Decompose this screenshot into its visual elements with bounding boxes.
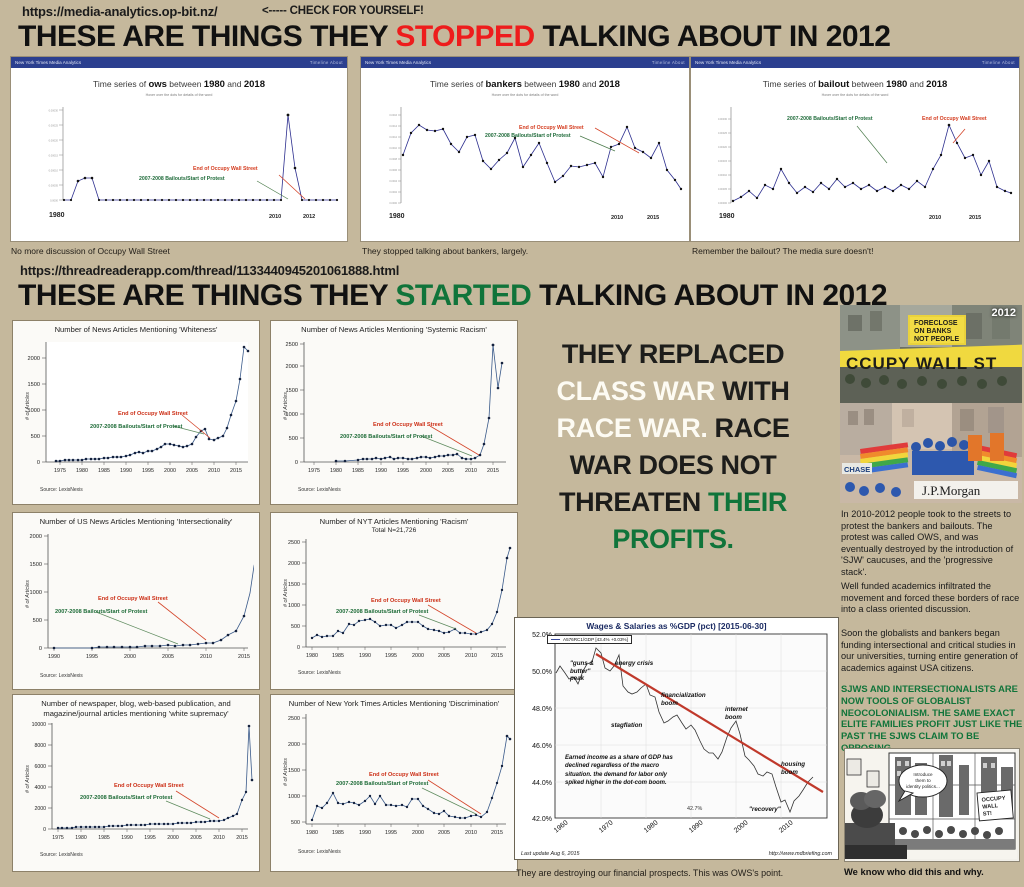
svg-text:2005: 2005 xyxy=(190,835,202,841)
headline-started-pre: THESE ARE THINGS THEY xyxy=(18,279,395,312)
cartoon-caption: We know who did this and why. xyxy=(844,866,984,877)
svg-text:0.00005: 0.00005 xyxy=(718,188,728,191)
annot-bailouts: 2007-2008 Bailouts/Start of Protest xyxy=(340,434,432,440)
svg-text:ON BANKS: ON BANKS xyxy=(914,328,952,335)
y-axis-label: # of Articles xyxy=(25,580,31,608)
xtick-2015: 2015 xyxy=(969,215,981,221)
nyt-hover-hint: Hover over the dots for details of the w… xyxy=(691,93,1019,97)
nyt-analytics-panel-ows[interactable]: New York Times Media Analytics Timeline … xyxy=(10,56,348,242)
svg-text:48.0%: 48.0% xyxy=(532,706,552,713)
annot-bailouts: 2007-2008 Bailouts/Start of Protest xyxy=(80,795,172,801)
svg-text:1990: 1990 xyxy=(359,830,371,836)
svg-text:0: 0 xyxy=(39,646,42,652)
caption-panel-bailout: Remember the bailout? The media sure doe… xyxy=(692,246,873,256)
svg-text:2500: 2500 xyxy=(288,716,300,722)
chart-subtitle: Total N=21,726 xyxy=(276,527,512,534)
headline-started-post: TALKING ABOUT IN 2012 xyxy=(531,279,887,312)
nyt-app-title: New York Times Media Analytics xyxy=(365,57,431,68)
nyt-nav-links[interactable]: Timeline About xyxy=(982,57,1015,68)
svg-text:44.0%: 44.0% xyxy=(532,780,552,787)
svg-text:1985: 1985 xyxy=(332,653,344,659)
svg-text:1990: 1990 xyxy=(688,819,705,834)
nyt-app-title: New York Times Media Analytics xyxy=(695,57,761,68)
chart-plot: # of Articles 0500 10001500 2000 xyxy=(18,338,254,486)
chart-plot: # of Articles 0500 10001500 20002500 xyxy=(276,338,512,486)
svg-text:0.00010: 0.00010 xyxy=(49,169,59,173)
y-axis-label: # of Articles xyxy=(25,392,31,420)
svg-text:1995: 1995 xyxy=(86,654,98,660)
photo-ows-2012: FORECLOSE ON BANKS NOT PEOPLE CCUPY WALL… xyxy=(840,305,1022,403)
t-y1: 1980 xyxy=(559,79,580,90)
xtick-2010: 2010 xyxy=(929,215,941,221)
nyt-bankers-svg: 0.00000.0002 0.00040.0006 0.00080.0010 0… xyxy=(367,103,685,211)
svg-text:0.0006: 0.0006 xyxy=(389,169,397,172)
svg-text:46.0%: 46.0% xyxy=(532,743,552,750)
t-and: and xyxy=(225,79,244,89)
slogan-line-2: CLASS WAR WITH xyxy=(508,373,838,410)
svg-text:1500: 1500 xyxy=(30,562,42,568)
t-and: and xyxy=(907,79,926,89)
chart-card-whiteness[interactable]: Number of News Articles Mentioning 'Whit… xyxy=(12,320,260,505)
svg-text:0.0000: 0.0000 xyxy=(389,202,397,205)
svg-text:0.00030: 0.00030 xyxy=(49,109,59,113)
svg-text:8000: 8000 xyxy=(34,743,46,749)
svg-text:1990: 1990 xyxy=(359,653,371,659)
svg-text:1990: 1990 xyxy=(120,468,132,474)
svg-text:0: 0 xyxy=(43,827,46,833)
svg-text:2000: 2000 xyxy=(34,806,46,812)
annot-bailouts: 2007-2008 Bailouts/Start of Protest xyxy=(336,609,428,615)
cartoon-art: OCCUPYWALLST! Introducethem to identity … xyxy=(845,749,1017,859)
caption-panel-bankers: They stopped talking about bankers, larg… xyxy=(362,246,528,256)
annot-bailouts: 2007-2008 Bailouts/Start of Protest xyxy=(55,609,147,615)
svg-text:2000: 2000 xyxy=(288,742,300,748)
slogan-profits: PROFITS. xyxy=(612,524,733,554)
svg-text:42.0%: 42.0% xyxy=(532,816,552,823)
svg-text:2500: 2500 xyxy=(288,540,300,546)
svg-text:0.0002: 0.0002 xyxy=(389,191,397,194)
chart-plot: # of Articles 0500 10001500 2000 xyxy=(18,530,254,672)
chart-source: Source: LexisNexis xyxy=(276,487,512,493)
svg-text:0.00025: 0.00025 xyxy=(49,124,59,128)
annot-end-ows: End of Occupy Wall Street xyxy=(369,772,439,778)
chart-source: Source: LexisNexis xyxy=(276,670,512,676)
svg-text:2015: 2015 xyxy=(491,653,503,659)
nyt-hover-hint: Hover over the dots for details of the w… xyxy=(361,93,689,97)
annot-bailouts: 2007-2008 Bailouts/Start of Protest xyxy=(90,424,182,430)
svg-text:1500: 1500 xyxy=(288,582,300,588)
xtick-1980: 1980 xyxy=(389,213,405,220)
annot-energy-crisis: energy crisis xyxy=(615,660,653,667)
chart-source: Source: LexisNexis xyxy=(18,487,254,493)
wages-chart-title: Wages & Salaries as %GDP (pct) [2015-06-… xyxy=(515,618,838,631)
slogan-line-6: PROFITS. xyxy=(508,521,838,558)
svg-text:1995: 1995 xyxy=(397,468,409,474)
svg-text:0.00015: 0.00015 xyxy=(49,154,59,158)
annot-internet-boom: internet boom xyxy=(725,706,755,722)
wages-chart-card[interactable]: Wages & Salaries as %GDP (pct) [2015-06-… xyxy=(514,617,839,860)
svg-text:them to: them to xyxy=(915,778,931,783)
source-url-top[interactable]: https://media-analytics.op-bit.nz/ xyxy=(22,4,217,19)
slogan-line-3: RACE WAR. RACE xyxy=(508,410,838,447)
slogan-their: THEIR xyxy=(708,487,787,517)
annot-end-ows: End of Occupy Wall Street xyxy=(193,166,258,172)
photo-year-2012: 2012 xyxy=(992,307,1016,319)
annot-bailouts: 2007-2008 Bailouts/Start of Protest xyxy=(485,133,571,139)
slogan-threaten: THREATEN xyxy=(559,487,708,517)
svg-text:1975: 1975 xyxy=(52,835,64,841)
svg-text:2000: 2000 xyxy=(420,468,432,474)
chart-source: Source: LexisNexis xyxy=(276,849,512,855)
chart-card-systemic-racism[interactable]: Number of News Articles Mentioning 'Syst… xyxy=(270,320,518,505)
legend-swatch xyxy=(551,639,560,640)
svg-text:2015: 2015 xyxy=(487,468,499,474)
svg-text:1985: 1985 xyxy=(98,835,110,841)
wages-endpoint-label: 42.7% xyxy=(687,806,702,812)
svg-text:1980: 1980 xyxy=(76,468,88,474)
chart-plot: # of Articles 02000 40006000 800010000 xyxy=(18,721,254,851)
chart-card-white-supremacy[interactable]: Number of newspaper, blog, web-based pub… xyxy=(12,694,260,872)
nyt-nav-links[interactable]: Timeline About xyxy=(652,57,685,68)
svg-text:2000: 2000 xyxy=(30,534,42,540)
y-axis-label: # of Articles xyxy=(283,758,289,786)
xtick-2012: 2012 xyxy=(303,214,315,220)
svg-text:2000: 2000 xyxy=(733,819,750,834)
annot-financialization-boom: financialization boom xyxy=(661,692,719,708)
t-and: and xyxy=(580,79,599,89)
annot-guns-butter: "guns & butter" peak xyxy=(570,660,604,683)
nyt-plot-area[interactable]: 0.00000.0002 0.00040.0006 0.00080.0010 0… xyxy=(367,103,683,213)
nyt-nav-links[interactable]: Timeline About xyxy=(310,57,343,68)
slogan-race: RACE xyxy=(707,413,789,443)
svg-text:1000: 1000 xyxy=(30,590,42,596)
svg-text:Introduce: Introduce xyxy=(913,772,933,777)
annot-end-ows: End of Occupy Wall Street xyxy=(98,596,168,602)
svg-text:1980: 1980 xyxy=(306,653,318,659)
svg-text:1990: 1990 xyxy=(375,468,387,474)
slogan-line-4: WAR DOES NOT xyxy=(508,447,838,484)
right-paragraph-2: Well funded academics infiltrated the mo… xyxy=(841,581,1021,616)
svg-text:1985: 1985 xyxy=(98,468,110,474)
svg-text:0.0016: 0.0016 xyxy=(389,114,397,117)
svg-text:0.00005: 0.00005 xyxy=(49,184,59,188)
center-slogan: THEY REPLACED CLASS WAR WITH RACE WAR. R… xyxy=(508,336,838,558)
nyt-ows-svg: 0.00000.00005 0.000100.00015 0.000200.00… xyxy=(17,103,343,211)
nyt-chart-title: Time series of bankers between 1980 and … xyxy=(361,79,689,90)
t-keyword: ows xyxy=(148,79,166,90)
svg-text:4000: 4000 xyxy=(34,785,46,791)
t-y1: 1980 xyxy=(886,79,907,90)
annot-stagflation: stagflation xyxy=(611,722,642,729)
y-axis-label: # of Articles xyxy=(25,765,31,793)
svg-text:0.0014: 0.0014 xyxy=(389,125,397,128)
svg-text:0.00025: 0.00025 xyxy=(718,132,728,135)
annot-housing-boom: housing boom xyxy=(781,761,811,777)
svg-text:2000: 2000 xyxy=(28,356,40,362)
svg-text:0: 0 xyxy=(297,645,300,651)
svg-text:1000: 1000 xyxy=(288,603,300,609)
svg-text:0.00000: 0.00000 xyxy=(718,202,728,205)
svg-text:CHASE: CHASE xyxy=(844,465,870,474)
svg-text:2015: 2015 xyxy=(230,468,242,474)
caption-wages: They are destroying our financial prospe… xyxy=(516,868,783,878)
annot-bailouts: 2007-2008 Bailouts/Start of Protest xyxy=(336,781,428,787)
svg-text:1500: 1500 xyxy=(28,382,40,388)
svg-text:1980: 1980 xyxy=(306,830,318,836)
svg-text:0: 0 xyxy=(37,460,40,466)
xtick-2015: 2015 xyxy=(647,215,659,221)
chart-plot: # of Articles 5001000 15002000 2500 xyxy=(276,712,512,848)
chart-title: Number of News Articles Mentioning 'Syst… xyxy=(276,325,512,335)
t-pre: Time series of xyxy=(93,79,148,89)
svg-text:1995: 1995 xyxy=(385,830,397,836)
svg-text:6000: 6000 xyxy=(34,764,46,770)
xtick-1980: 1980 xyxy=(719,213,735,220)
svg-text:2000: 2000 xyxy=(124,654,136,660)
svg-text:1500: 1500 xyxy=(288,768,300,774)
svg-text:2005: 2005 xyxy=(438,830,450,836)
svg-text:1980: 1980 xyxy=(643,819,660,834)
t-y2: 2018 xyxy=(599,79,620,90)
svg-text:identity politics...: identity politics... xyxy=(906,784,940,789)
nyt-appbar: New York Times Media Analytics Timeline … xyxy=(691,57,1019,68)
wages-last-update: Last update Aug 6, 2015 xyxy=(521,851,580,857)
t-mid: between xyxy=(522,79,559,89)
check-for-yourself-note: <----- CHECK FOR YOURSELF! xyxy=(262,5,424,17)
nyt-plot-area[interactable]: 0.000000.00005 0.000100.00015 0.000200.0… xyxy=(697,103,1013,213)
svg-text:1995: 1995 xyxy=(142,468,154,474)
t-keyword: bailout xyxy=(818,79,849,90)
wages-note: Earned income as a share of GDP has decl… xyxy=(565,754,675,788)
svg-text:2000: 2000 xyxy=(167,835,179,841)
svg-text:50.0%: 50.0% xyxy=(532,669,552,676)
nyt-analytics-panel-bankers[interactable]: New York Times Media Analytics Timeline … xyxy=(360,56,690,242)
right-paragraph-3: Soon the globalists and bankers began fu… xyxy=(841,628,1021,674)
svg-text:0.0000: 0.0000 xyxy=(50,199,58,203)
cartoon-identity-politics: OCCUPYWALLST! Introducethem to identity … xyxy=(844,748,1020,862)
nyt-appbar: New York Times Media Analytics Timeline … xyxy=(11,57,347,68)
chart-card-intersectionality[interactable]: Number of US News Articles Mentioning 'I… xyxy=(12,512,260,690)
svg-text:0.0010: 0.0010 xyxy=(389,147,397,150)
svg-text:0.00010: 0.00010 xyxy=(718,174,728,177)
svg-text:CCUPY WALL ST: CCUPY WALL ST xyxy=(846,354,997,373)
svg-text:J.P.Morgan: J.P.Morgan xyxy=(922,483,981,498)
annot-end-ows: End of Occupy Wall Street xyxy=(114,783,184,789)
svg-text:2010: 2010 xyxy=(213,835,225,841)
headline-started-keyword: STARTED xyxy=(395,279,531,312)
svg-text:10000: 10000 xyxy=(32,722,47,728)
svg-text:2015: 2015 xyxy=(491,830,503,836)
svg-text:0.00015: 0.00015 xyxy=(718,160,728,163)
svg-text:NOT PEOPLE: NOT PEOPLE xyxy=(914,336,959,343)
annot-bailouts: 2007-2008 Bailouts/Start of Protest xyxy=(787,116,873,122)
chart-title: Number of NYT Articles Mentioning 'Racis… xyxy=(276,517,512,527)
legend-label: A576RC1/GDP [43.4% +0.03%] xyxy=(563,637,628,642)
svg-text:500: 500 xyxy=(289,436,298,442)
svg-text:1975: 1975 xyxy=(54,468,66,474)
right-green-statement: SJWS AND INTERSECTIONALISTS ARE NOW TOOL… xyxy=(841,683,1023,754)
svg-text:2010: 2010 xyxy=(465,468,477,474)
svg-text:2500: 2500 xyxy=(286,342,298,348)
right-paragraph-1: In 2010-2012 people took to the streets … xyxy=(841,509,1021,579)
nyt-hover-hint: Hover over the dots for details of the w… xyxy=(11,93,347,97)
t-pre: Time series of xyxy=(430,79,485,89)
chart-source: Source: LexisNexis xyxy=(18,673,254,679)
svg-text:500: 500 xyxy=(291,820,300,826)
nyt-analytics-panel-bailout[interactable]: New York Times Media Analytics Timeline … xyxy=(690,56,1020,242)
annot-end-ows: End of Occupy Wall Street xyxy=(371,598,441,604)
svg-text:500: 500 xyxy=(291,624,300,630)
svg-text:2000: 2000 xyxy=(286,364,298,370)
slogan-race-war: RACE WAR. xyxy=(557,413,708,443)
svg-text:2000: 2000 xyxy=(288,561,300,567)
wages-legend[interactable]: A576RC1/GDP [43.4% +0.03%] xyxy=(547,635,632,644)
t-mid: between xyxy=(849,79,886,89)
svg-text:1985: 1985 xyxy=(332,830,344,836)
svg-text:2005: 2005 xyxy=(162,654,174,660)
svg-text:2010: 2010 xyxy=(778,819,795,834)
svg-text:2000: 2000 xyxy=(164,468,176,474)
nyt-chart-title: Time series of bailout between 1980 and … xyxy=(691,79,1019,90)
svg-text:2010: 2010 xyxy=(465,653,477,659)
svg-text:1980: 1980 xyxy=(75,835,87,841)
chart-title: Number of New York Times Articles Mentio… xyxy=(276,699,512,709)
headline-started: THESE ARE THINGS THEY STARTED TALKING AB… xyxy=(18,279,887,313)
y-axis-label: # of Articles xyxy=(283,392,289,420)
svg-text:1980: 1980 xyxy=(330,468,342,474)
svg-text:0.0008: 0.0008 xyxy=(389,158,397,161)
systemic-racism-svg: 0500 10001500 20002500 197519801985 1990… xyxy=(276,338,512,486)
slogan-line-5: THREATEN THEIR xyxy=(508,484,838,521)
slogan-with: WITH xyxy=(715,376,789,406)
headline-stopped-keyword: STOPPED xyxy=(395,20,534,53)
chart-card-nyt-racism[interactable]: Number of NYT Articles Mentioning 'Racis… xyxy=(270,512,518,690)
t-y2: 2018 xyxy=(244,79,265,90)
chart-title: Number of News Articles Mentioning 'Whit… xyxy=(18,325,254,335)
svg-text:2005: 2005 xyxy=(438,653,450,659)
svg-text:0: 0 xyxy=(295,460,298,466)
annot-end-ows: End of Occupy Wall Street xyxy=(922,116,987,122)
t-mid: between xyxy=(167,79,204,89)
chart-plot: # of Articles 0500 10001500 20002500 xyxy=(276,537,512,669)
nyt-appbar: New York Times Media Analytics Timeline … xyxy=(361,57,689,68)
caption-panel-ows: No more discussion of Occupy Wall Street xyxy=(11,246,170,256)
y-axis-label: # of Articles xyxy=(283,579,289,607)
annot-end-ows: End of Occupy Wall Street xyxy=(373,422,443,428)
photo-2012-art: FORECLOSE ON BANKS NOT PEOPLE CCUPY WALL… xyxy=(840,305,1022,403)
chart-source: Source: LexisNexis xyxy=(18,852,254,858)
headline-stopped-pre: THESE ARE THINGS THEY xyxy=(18,20,395,53)
svg-text:2010: 2010 xyxy=(200,654,212,660)
headline-stopped: THESE ARE THINGS THEY STOPPED TALKING AB… xyxy=(18,20,890,54)
svg-text:1000: 1000 xyxy=(288,794,300,800)
svg-text:500: 500 xyxy=(31,434,40,440)
slogan-class-war: CLASS WAR xyxy=(557,376,715,406)
svg-text:1960: 1960 xyxy=(553,819,570,834)
chart-title: Number of newspaper, blog, web-based pub… xyxy=(18,699,254,718)
infographic-root: https://media-analytics.op-bit.nz/ <----… xyxy=(0,0,1024,887)
svg-text:2015: 2015 xyxy=(236,835,248,841)
svg-text:2010: 2010 xyxy=(465,830,477,836)
t-y2: 2018 xyxy=(926,79,947,90)
t-pre: Time series of xyxy=(763,79,818,89)
svg-text:1990: 1990 xyxy=(121,835,133,841)
xtick-1980: 1980 xyxy=(49,212,65,219)
svg-text:2005: 2005 xyxy=(186,468,198,474)
svg-text:2015: 2015 xyxy=(238,654,250,660)
wages-svg: 52.0%50.0% 48.0%46.0% 44.0%42.0% 1960 19… xyxy=(515,632,840,854)
svg-text:2010: 2010 xyxy=(208,468,220,474)
chart-card-nyt-discrimination[interactable]: Number of New York Times Articles Mentio… xyxy=(270,694,518,872)
nyt-chart-title: Time series of ows between 1980 and 2018 xyxy=(11,79,347,90)
nyt-plot-area[interactable]: 0.00000.00005 0.000100.00015 0.000200.00… xyxy=(17,103,341,213)
svg-text:0.00020: 0.00020 xyxy=(49,139,59,143)
svg-text:0.0004: 0.0004 xyxy=(389,180,397,183)
svg-text:0.00030: 0.00030 xyxy=(718,118,728,121)
svg-text:1970: 1970 xyxy=(598,819,615,834)
t-keyword: bankers xyxy=(485,79,521,90)
source-url-threadreader[interactable]: https://threadreaderapp.com/thread/11334… xyxy=(20,263,399,278)
annot-end-ows: End of Occupy Wall Street xyxy=(519,125,584,131)
annot-recovery: "recovery" xyxy=(749,806,781,813)
slogan-line-1: THEY REPLACED xyxy=(508,336,838,373)
svg-text:2005: 2005 xyxy=(442,468,454,474)
svg-text:500: 500 xyxy=(33,618,42,624)
svg-text:FORECLOSE: FORECLOSE xyxy=(914,320,958,327)
xtick-2010: 2010 xyxy=(269,214,281,220)
svg-text:1990: 1990 xyxy=(48,654,60,660)
svg-text:1975: 1975 xyxy=(308,468,320,474)
svg-text:ST!: ST! xyxy=(983,811,993,818)
svg-text:1995: 1995 xyxy=(144,835,156,841)
nyt-discrimination-svg: 5001000 15002000 2500 198019851990 19952… xyxy=(276,712,512,848)
svg-text:2000: 2000 xyxy=(412,653,424,659)
t-y1: 1980 xyxy=(204,79,225,90)
svg-text:1995: 1995 xyxy=(385,653,397,659)
svg-text:0.0012: 0.0012 xyxy=(389,136,397,139)
photo-jpmorgan-2018: J.P.Morgan CHASE 2018 xyxy=(840,403,1022,503)
annot-bailouts: 2007-2008 Bailouts/Start of Protest xyxy=(139,176,225,182)
headline-stopped-post: TALKING ABOUT IN 2012 xyxy=(535,20,891,53)
chart-title: Number of US News Articles Mentioning 'I… xyxy=(18,517,254,527)
svg-text:0.00020: 0.00020 xyxy=(718,146,728,149)
nyt-app-title: New York Times Media Analytics xyxy=(15,57,81,68)
photo-2018-art: J.P.Morgan CHASE xyxy=(840,403,1022,503)
xtick-2010: 2010 xyxy=(611,215,623,221)
svg-text:2000: 2000 xyxy=(412,830,424,836)
annot-end-ows: End of Occupy Wall Street xyxy=(118,411,188,417)
wages-source-url[interactable]: http://www.mdbriefing.com xyxy=(769,851,832,857)
svg-text:1985: 1985 xyxy=(352,468,364,474)
